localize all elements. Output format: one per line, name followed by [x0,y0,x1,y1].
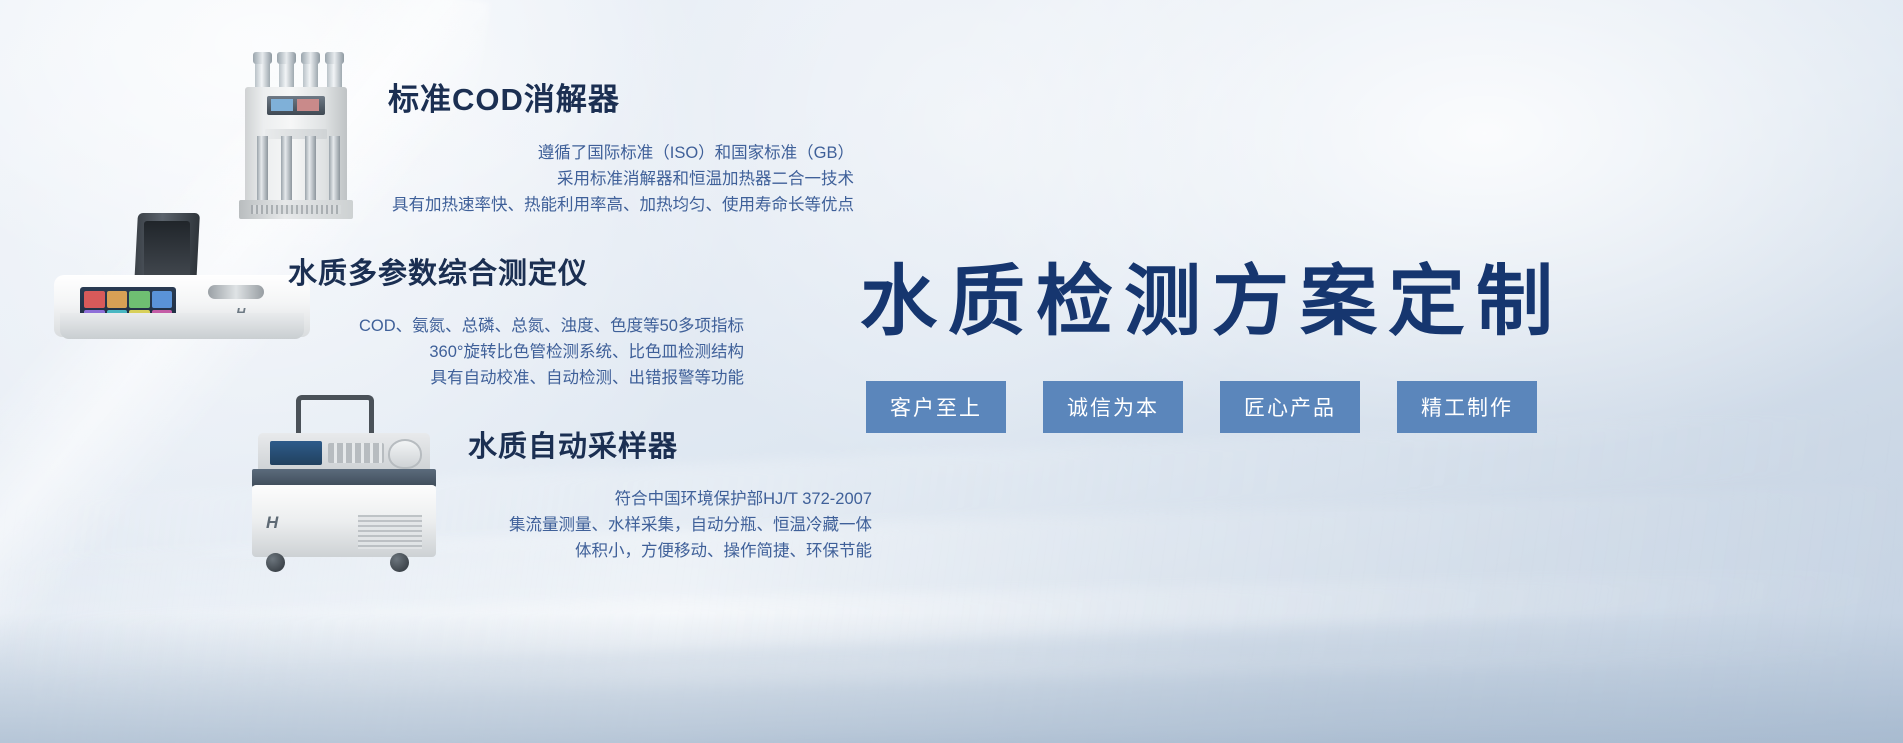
product-description: COD、氨氮、总磷、总氮、浊度、色度等50多项指标 360°旋转比色管检测系统、… [288,313,744,391]
badge-craftsmanship[interactable]: 匠心产品 [1220,381,1360,433]
background-bottom-band [0,613,1903,743]
badge-list: 客户至上 诚信为本 匠心产品 精工制作 [866,381,1537,433]
product-description-line: 具有加热速率快、热能利用率高、加热均匀、使用寿命长等优点 [388,192,854,218]
brand-mark: H [266,513,278,533]
product-description-line: 具有自动校准、自动检测、出错报警等功能 [288,365,744,391]
product-description-line: 遵循了国际标准（ISO）和国家标准（GB） [388,140,854,166]
product-image-multi-parameter-analyzer: H [40,213,330,348]
product-block-cod-digester: 标准COD消解器 遵循了国际标准（ISO）和国家标准（GB） 采用标准消解器和恒… [388,74,854,218]
product-description: 遵循了国际标准（ISO）和国家标准（GB） 采用标准消解器和恒温加热器二合一技术… [388,140,854,218]
badge-customer-first[interactable]: 客户至上 [866,381,1006,433]
product-block-auto-sampler: 水质自动采样器 符合中国环境保护部HJ/T 372-2007 集流量测量、水样采… [468,423,872,564]
badge-integrity[interactable]: 诚信为本 [1043,381,1183,433]
product-title: 水质自动采样器 [468,423,872,465]
product-description: 符合中国环境保护部HJ/T 372-2007 集流量测量、水样采集，自动分瓶、恒… [468,486,872,564]
product-title: 水质多参数综合测定仪 [288,250,744,292]
product-title: 标准COD消解器 [388,74,854,119]
product-description-line: 360°旋转比色管检测系统、比色皿检测结构 [288,339,744,365]
product-description-line: 体积小，方便移动、操作简捷、环保节能 [468,538,872,564]
product-image-auto-sampler: H [238,395,443,580]
badge-precision-manufacturing[interactable]: 精工制作 [1397,381,1537,433]
promo-banner: H H 标准COD消解器 遵循了国际标准（ISO）和国家标准（GB） 采用标准消… [0,0,1903,743]
product-block-multi-parameter-analyzer: 水质多参数综合测定仪 COD、氨氮、总磷、总氮、浊度、色度等50多项指标 360… [288,250,744,391]
product-description-line: 采用标准消解器和恒温加热器二合一技术 [388,166,854,192]
product-description-line: COD、氨氮、总磷、总氮、浊度、色度等50多项指标 [288,313,744,339]
banner-headline: 水质检测方案定制 [860,240,1564,351]
background-streak-2 [0,569,1903,705]
product-image-cod-digester [235,50,357,216]
product-description-line: 集流量测量、水样采集，自动分瓶、恒温冷藏一体 [468,512,872,538]
product-description-line: 符合中国环境保护部HJ/T 372-2007 [468,486,872,512]
background-streak-3 [0,647,1903,743]
